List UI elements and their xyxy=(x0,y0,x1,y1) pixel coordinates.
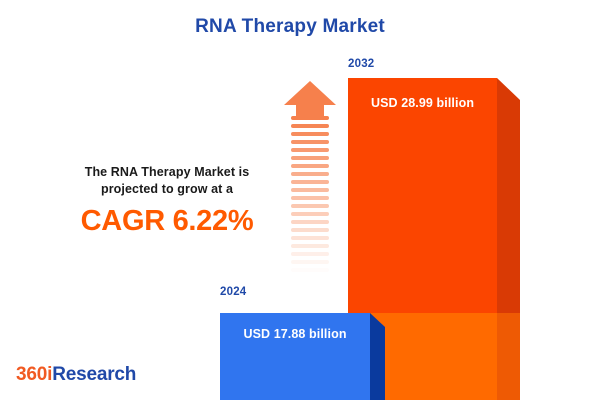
growth-arrow-icon xyxy=(283,80,337,295)
page-title: RNA Therapy Market xyxy=(0,16,580,38)
arrow-shaft-stripe xyxy=(291,140,329,144)
arrow-shaft-stripe xyxy=(291,228,329,232)
logo-text-research: Research xyxy=(52,364,136,385)
bar-label-2024: 2024 xyxy=(220,286,246,298)
arrow-shaft-stripe xyxy=(291,276,329,280)
arrow-shaft-stripe xyxy=(291,132,329,136)
logo: 360iResearch xyxy=(16,364,136,386)
bar-value-2032: USD 28.99 billion xyxy=(348,96,497,110)
cagr-description-line-1: The RNA Therapy Market is xyxy=(58,164,276,181)
infographic-canvas: RNA Therapy Market The RNA Therapy Marke… xyxy=(0,0,600,400)
arrow-shaft-stripe xyxy=(291,204,329,208)
arrow-shaft-stripe xyxy=(291,236,329,240)
bar-2032-side-face-lower xyxy=(497,313,520,400)
arrow-shaft-stripe xyxy=(291,212,329,216)
arrow-shaft-stripe xyxy=(291,188,329,192)
bar-label-2032: 2032 xyxy=(348,58,374,70)
arrow-shaft-stripe xyxy=(291,124,329,128)
arrow-shaft-stripe xyxy=(291,116,329,120)
arrow-shaft-stripe xyxy=(291,252,329,256)
arrow-shaft-stripe xyxy=(291,196,329,200)
arrow-shaft-stripe xyxy=(291,148,329,152)
logo-text-360: 360 xyxy=(16,364,47,385)
cagr-callout: The RNA Therapy Market is projected to g… xyxy=(58,164,276,238)
arrow-shaft-stripe xyxy=(291,220,329,224)
arrow-shaft-stripe xyxy=(291,180,329,184)
arrow-shaft-stripe xyxy=(291,284,329,288)
arrow-shaft-stripe xyxy=(291,172,329,176)
arrow-shaft-stripe xyxy=(291,268,329,272)
cagr-value: CAGR 6.22% xyxy=(58,204,276,238)
arrow-shaft-stripes xyxy=(291,116,329,296)
arrow-shaft-stripe xyxy=(291,164,329,168)
bar-2024-side-face xyxy=(370,313,385,400)
arrow-shaft-stripe xyxy=(291,260,329,264)
cagr-description-line-2: projected to grow at a xyxy=(58,181,276,198)
arrow-head-icon xyxy=(283,80,337,117)
bar-value-2024: USD 17.88 billion xyxy=(220,327,370,341)
arrow-shaft-stripe xyxy=(291,156,329,160)
arrow-shaft-stripe xyxy=(291,244,329,248)
